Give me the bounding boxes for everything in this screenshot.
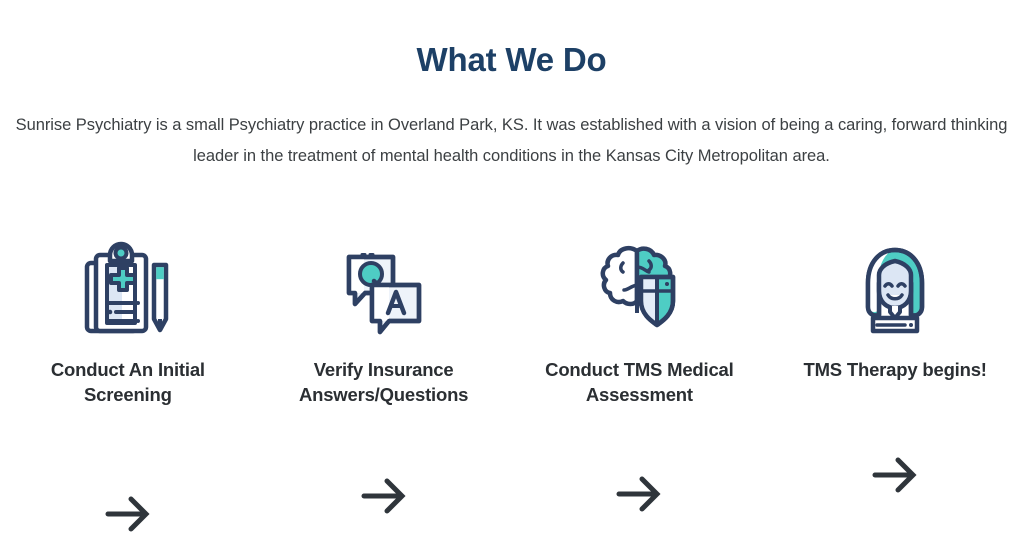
page-title: What We Do	[0, 40, 1023, 80]
process-step-label: Verify Insurance Answers/Questions	[266, 357, 501, 407]
arrow-right-icon	[100, 486, 156, 542]
arrow-right-icon	[356, 468, 412, 524]
arrow-right-icon	[867, 447, 923, 503]
process-step-label: Conduct An Initial Screening	[10, 357, 245, 407]
process-step-label: TMS Therapy begins!	[803, 357, 986, 382]
process-step-4: TMS Therapy begins!	[767, 230, 1023, 382]
what-we-do-section: What We Do Sunrise Psychiatry is a small…	[0, 0, 1023, 548]
process-steps-row: Conduct An Initial Screening	[0, 230, 1023, 407]
process-step-3: Conduct TMS Medical Assessment	[512, 230, 768, 407]
process-step-1: Conduct An Initial Screening	[0, 230, 256, 407]
process-step-label: Conduct TMS Medical Assessment	[522, 357, 757, 407]
patient-woman-icon	[849, 230, 941, 335]
brain-shield-icon	[593, 230, 685, 335]
clipboard-medical-icon	[82, 230, 174, 335]
process-step-2: Verify Insurance Answers/Questions	[256, 230, 512, 407]
intro-paragraph: Sunrise Psychiatry is a small Psychiatry…	[11, 110, 1012, 172]
question-answer-chat-icon	[338, 230, 430, 335]
arrow-right-icon	[611, 466, 667, 522]
